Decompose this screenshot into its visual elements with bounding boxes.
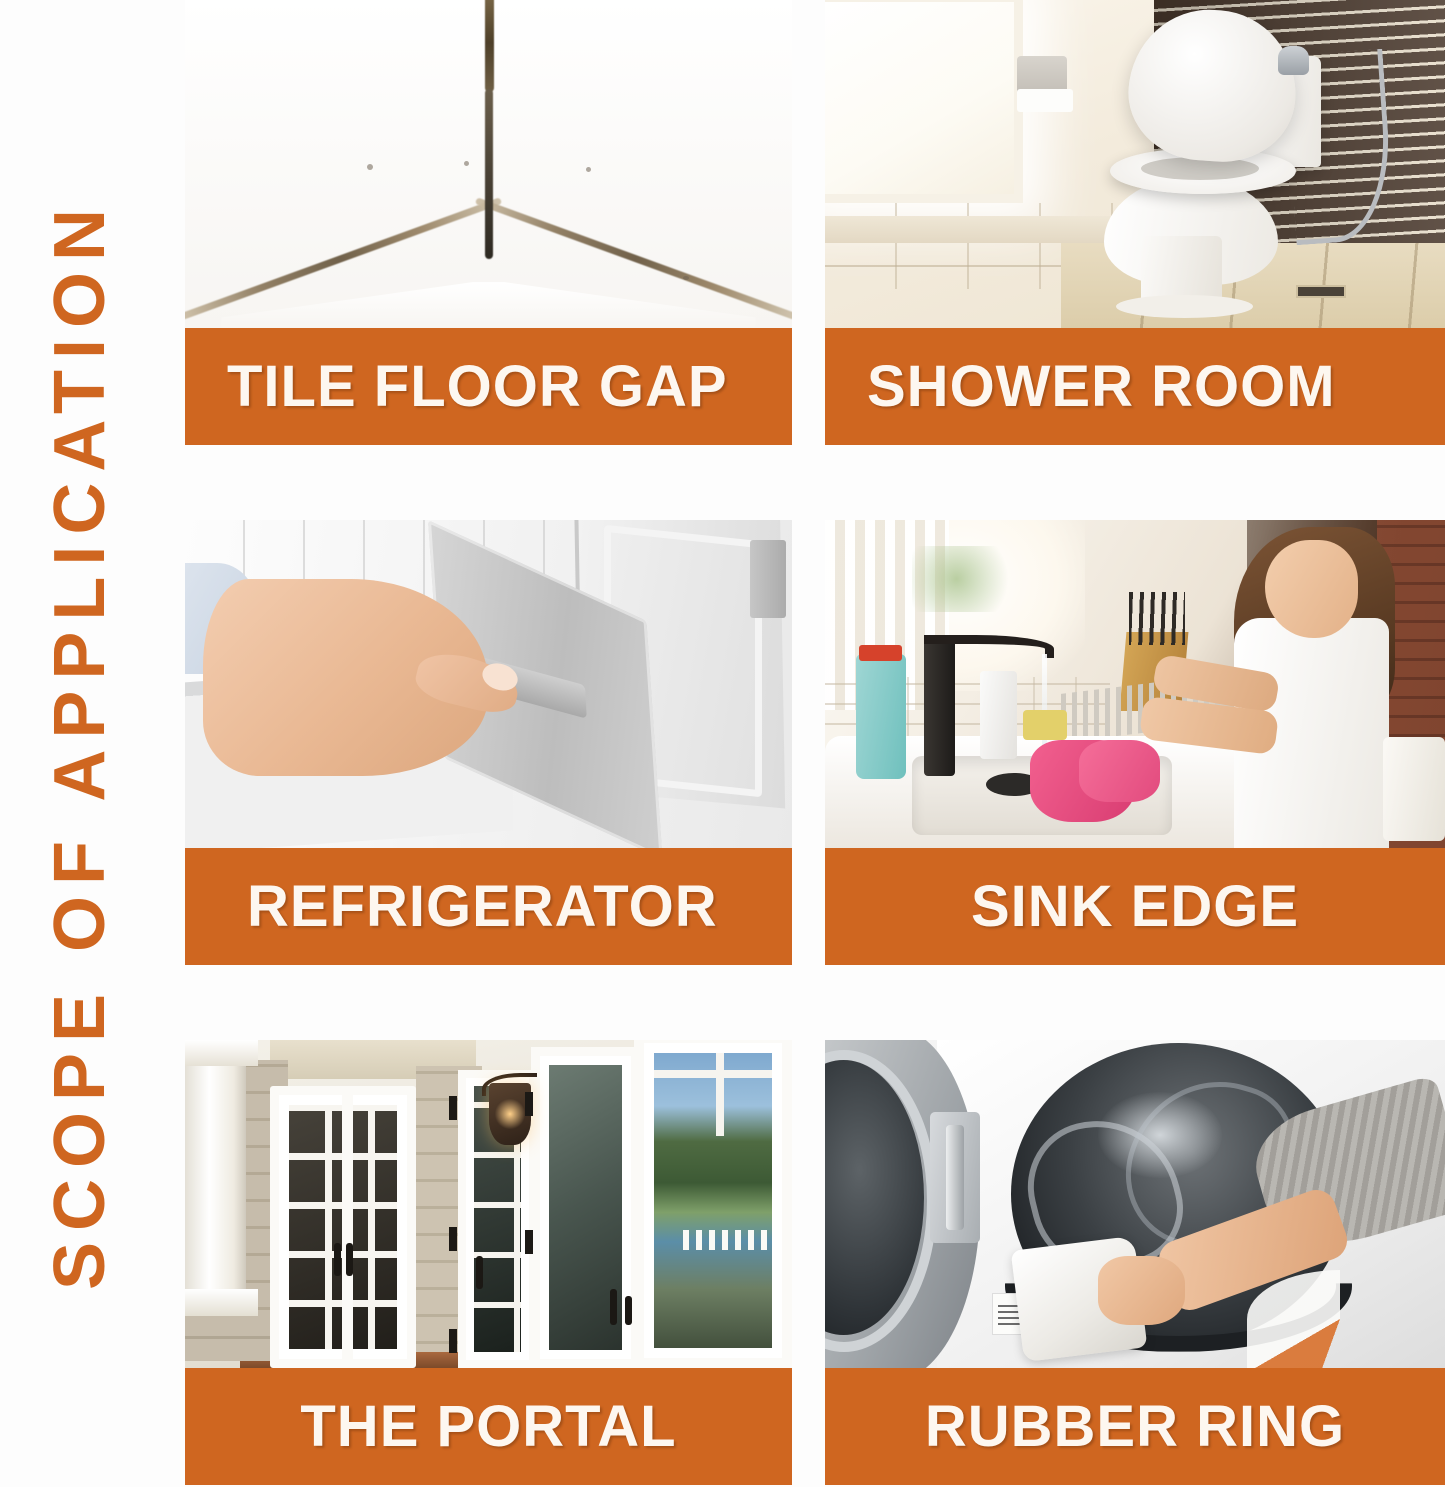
door-handle [476,1256,483,1289]
french-doors-left [270,1086,416,1368]
door-handle [346,1243,353,1276]
card-caption-shower-room: SHOWER ROOM [825,328,1445,445]
spray-bottle-cap [859,645,902,661]
photo-shower-room [825,0,1445,328]
card-shower-room[interactable]: SHOWER ROOM [825,0,1445,445]
door-handle [334,1243,341,1276]
lantern-glow [495,1099,525,1129]
photo-refrigerator [185,520,792,848]
washer-hinge-pin [946,1125,965,1230]
door-hinge [525,1092,533,1116]
card-caption-tile-floor-gap: TILE FLOOR GAP [185,328,792,445]
photo-sink-edge [825,520,1445,848]
mould-speck [683,276,689,280]
card-refrigerator[interactable]: REFRIGERATOR [185,520,792,965]
grout-line-vertical-top [485,0,494,92]
spray-bottle [856,654,906,779]
bathroom-window [825,0,1023,203]
knives [1129,592,1185,644]
photo-tile-floor-gap [185,0,792,328]
porch-column-capital [185,1040,258,1066]
soap-dispenser [980,671,1017,760]
toilet-paper-roll [1017,89,1073,112]
door-handle [610,1289,617,1325]
door-hinge [525,1230,533,1254]
french-doors-mullion [342,1095,353,1359]
bidet-sprayer-head [1278,46,1309,76]
headline-column: SCOPE OF APPLICATION [0,0,160,1487]
floor-drain [1296,285,1346,298]
tile-wall-left [185,0,489,328]
mould-speck [464,161,469,166]
mould-speck [586,167,591,172]
pergola-reflection [683,1230,774,1250]
faucet-body [924,638,955,776]
card-caption-sink-edge: SINK EDGE [825,848,1445,965]
patio-door-right [634,1040,792,1368]
patio-door-right-glass [654,1053,772,1348]
page-title: SCOPE OF APPLICATION [39,197,121,1289]
stool [1383,737,1445,842]
card-rubber-ring[interactable]: RUBBER RING [825,1040,1445,1485]
door-handle [625,1296,632,1326]
card-caption-rubber-ring: RUBBER RING [825,1368,1445,1485]
porch-column-base [185,1289,258,1315]
card-sink-edge[interactable]: SINK EDGE [825,520,1445,965]
window-plant [912,546,1024,612]
card-caption-refrigerator: REFRIGERATOR [185,848,792,965]
photo-rubber-ring [825,1040,1445,1368]
sponge [1023,710,1066,740]
door-hinge [449,1227,457,1251]
patio-door-center [531,1047,640,1368]
door-hinge [449,1329,457,1353]
refrigerator-hinge [750,540,786,619]
pink-rubber-glove-second [1079,740,1160,802]
photo-the-portal [185,1040,792,1368]
door-hinge [449,1096,457,1120]
card-the-portal[interactable]: THE PORTAL [185,1040,792,1485]
hand-holding-cloth [1098,1256,1185,1325]
card-tile-floor-gap[interactable]: TILE FLOOR GAP [185,0,792,445]
warning-label-arc [1247,1270,1433,1368]
toilet-base [1116,295,1252,318]
tile-wall-right [489,0,793,328]
grout-line-vertical-corner [485,89,493,260]
porch-stone-ledge [185,1316,270,1362]
card-caption-the-portal: THE PORTAL [185,1368,792,1485]
application-scope-grid: TILE FLOOR GAP SHOWER ROOM [185,0,1445,1487]
girl-face [1265,540,1358,638]
